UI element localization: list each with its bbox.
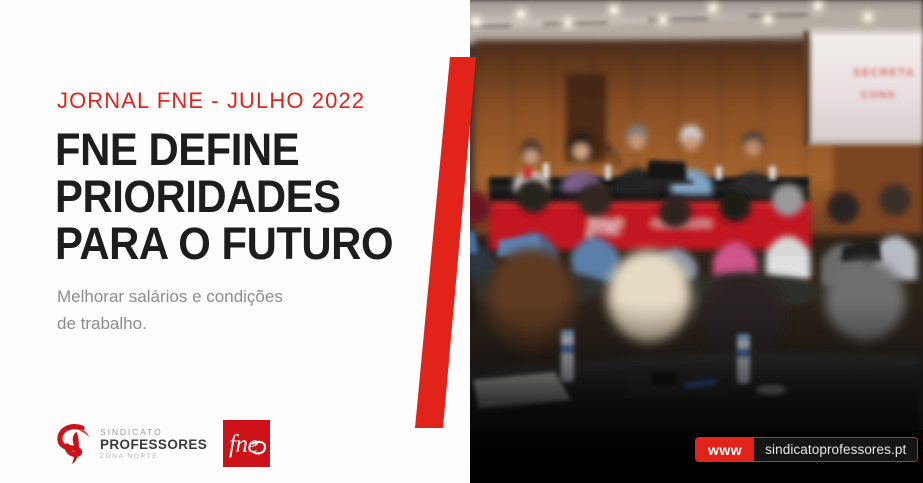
fne-newsletter-banner: SECRETA CONS [0, 0, 923, 483]
website-domain-label: sindicatoprofessores.pt [754, 438, 917, 461]
projection-line-2: CONS [861, 90, 896, 101]
sindicato-line-1: SINDICATO [100, 428, 207, 437]
www-prefix-label: www [696, 438, 754, 461]
sp-monogram-icon [57, 423, 93, 465]
subheadline-line-1: Melhorar salários e condições [57, 283, 387, 310]
website-badge[interactable]: www sindicatoprofessores.pt [695, 437, 918, 462]
fne-wordmark-icon: fne [223, 420, 270, 467]
subheadline: Melhorar salários e condições de trabalh… [57, 283, 387, 337]
logo-row: SINDICATO PROFESSORES ZONA NORTE fne [57, 420, 270, 467]
headline-line-3: PARA O FUTURO [55, 220, 390, 267]
svg-text:fne: fne [229, 431, 258, 458]
text-panel: JORNAL FNE - JULHO 2022 FNE DEFINE PRIOR… [0, 0, 470, 483]
kicker-label: JORNAL FNE - JULHO 2022 [57, 88, 365, 114]
sindicato-professores-logo[interactable]: SINDICATO PROFESSORES ZONA NORTE [57, 423, 207, 465]
projection-line-1: SECRETA [853, 67, 915, 79]
headline-line-2: PRIORIDADES [55, 173, 390, 220]
sindicato-line-2: PROFESSORES [100, 438, 207, 452]
page-title: FNE DEFINE PRIORIDADES PARA O FUTURO [55, 126, 390, 267]
subheadline-line-2: de trabalho. [57, 310, 387, 337]
sindicato-line-3: ZONA NORTE [100, 454, 207, 461]
conference-photo-illustration: SECRETA CONS [413, 0, 923, 483]
fne-logo[interactable]: fne [223, 420, 270, 467]
conference-photo: SECRETA CONS [413, 0, 923, 483]
headline-line-1: FNE DEFINE [55, 126, 390, 173]
